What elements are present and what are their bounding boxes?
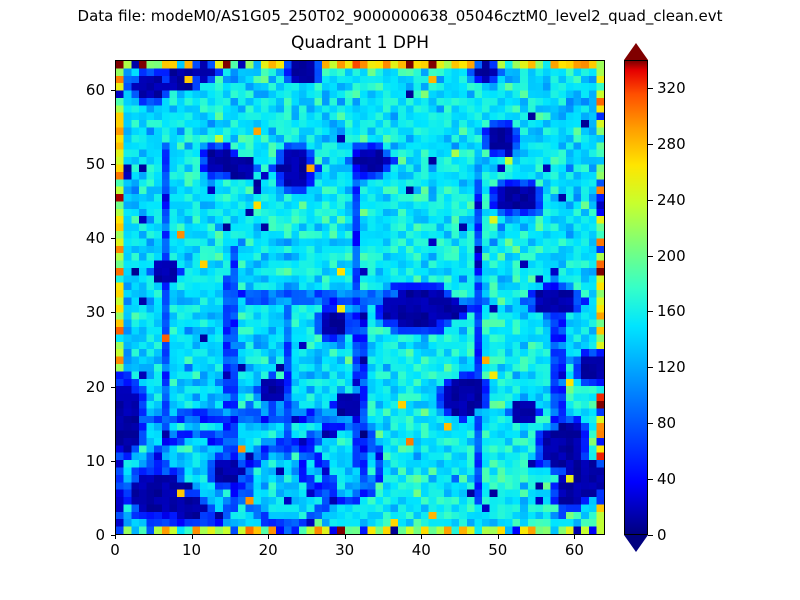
- data-file-label: Data file: modeM0/AS1G05_250T02_90000006…: [0, 7, 800, 25]
- colorbar-tick-mark: [648, 256, 653, 257]
- y-tick-label: 60: [63, 82, 105, 98]
- y-tick-label: 0: [63, 527, 105, 543]
- y-tick-mark: [111, 238, 115, 239]
- colorbar-gradient: [624, 60, 648, 535]
- y-tick-mark: [111, 461, 115, 462]
- y-tick-label: 30: [63, 304, 105, 320]
- x-tick-label: 20: [259, 542, 278, 558]
- colorbar-tick-label: 160: [657, 303, 686, 319]
- y-tick-mark: [111, 164, 115, 165]
- dph-heatmap-image: [116, 61, 604, 534]
- x-tick-label: 50: [488, 542, 507, 558]
- x-tick-mark: [345, 535, 346, 539]
- x-tick-mark: [574, 535, 575, 539]
- y-tick-label: 20: [63, 379, 105, 395]
- colorbar-tick-mark: [648, 144, 653, 145]
- y-tick-label: 50: [63, 156, 105, 172]
- colorbar-tick-label: 280: [657, 136, 686, 152]
- page-title: Quadrant 1 DPH: [115, 33, 605, 53]
- colorbar-tick-mark: [648, 200, 653, 201]
- colorbar-tick-label: 320: [657, 80, 686, 96]
- colorbar-tick-label: 80: [657, 415, 676, 431]
- x-tick-label: 0: [110, 542, 120, 558]
- y-tick-label: 40: [63, 230, 105, 246]
- x-tick-mark: [115, 535, 116, 539]
- colorbar-tick-mark: [648, 535, 653, 536]
- x-tick-mark: [421, 535, 422, 539]
- y-tick-mark: [111, 535, 115, 536]
- colorbar-tick-label: 120: [657, 359, 686, 375]
- x-tick-label: 30: [335, 542, 354, 558]
- x-tick-mark: [498, 535, 499, 539]
- colorbar-tick-mark: [648, 479, 653, 480]
- x-tick-label: 10: [182, 542, 201, 558]
- x-tick-mark: [268, 535, 269, 539]
- x-tick-label: 60: [565, 542, 584, 558]
- colorbar-tick-mark: [648, 311, 653, 312]
- y-tick-mark: [111, 312, 115, 313]
- colorbar-tick-label: 40: [657, 471, 676, 487]
- heatmap-axes: [115, 60, 605, 535]
- colorbar-extend-bottom-icon: [624, 535, 648, 552]
- colorbar-tick-mark: [648, 88, 653, 89]
- colorbar-tick-label: 240: [657, 192, 686, 208]
- y-tick-mark: [111, 387, 115, 388]
- colorbar-tick-mark: [648, 423, 653, 424]
- colorbar-tick-label: 200: [657, 248, 686, 264]
- colorbar-tick-label: 0: [657, 527, 667, 543]
- y-tick-label: 10: [63, 453, 105, 469]
- colorbar[interactable]: 04080120160200240280320: [624, 60, 648, 535]
- colorbar-extend-top-icon: [624, 43, 648, 60]
- y-tick-mark: [111, 90, 115, 91]
- x-tick-mark: [192, 535, 193, 539]
- x-tick-label: 40: [412, 542, 431, 558]
- colorbar-tick-mark: [648, 367, 653, 368]
